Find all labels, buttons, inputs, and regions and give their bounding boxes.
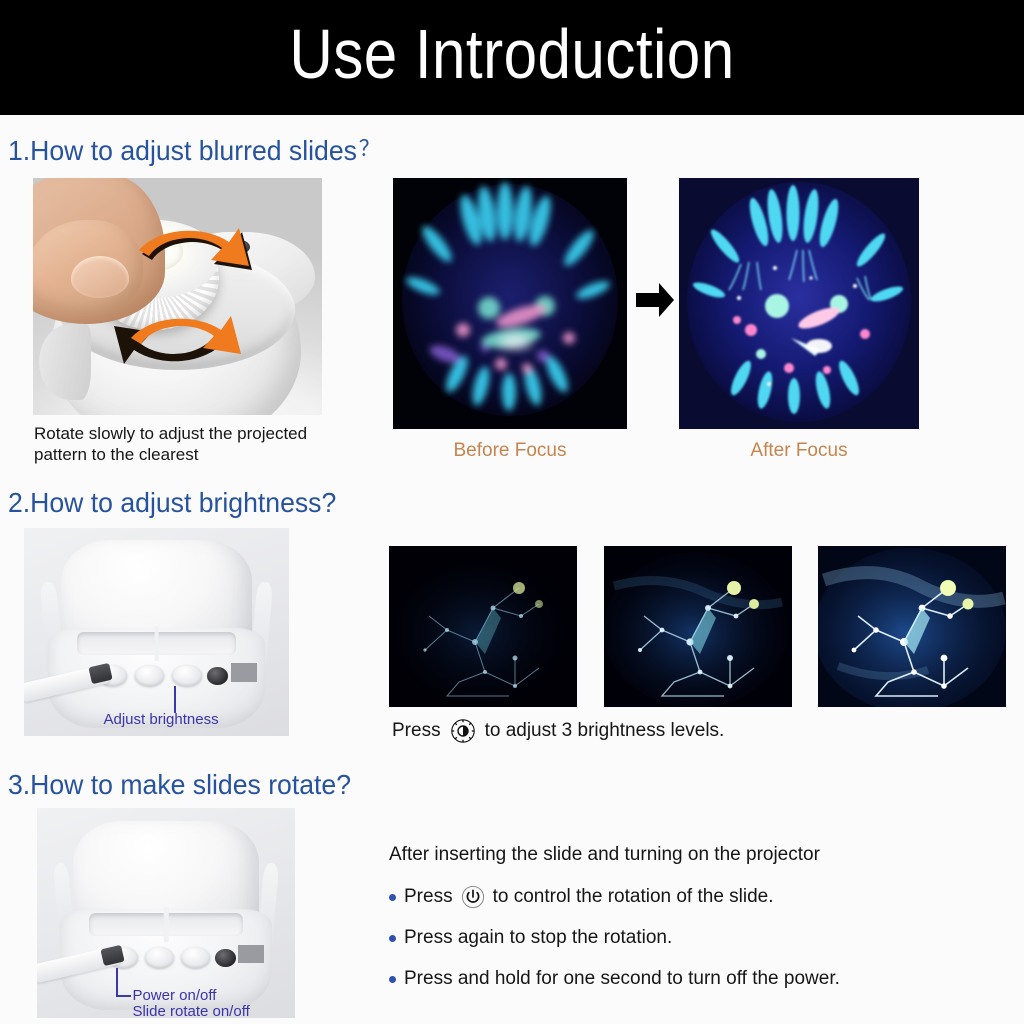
section-1-question-mark: ？: [357, 136, 380, 161]
brightness-level-2-image: [604, 546, 792, 707]
section-3-bullet-1: Press to control the rotation of the sli…: [389, 885, 774, 909]
speaker-grille-icon: [238, 945, 264, 964]
middle-button: [145, 947, 173, 968]
bullet-dot: [389, 894, 396, 901]
infographic-page: Use Introduction 1.How to adjust blurred…: [0, 0, 1024, 1024]
power-annotation-label: Power on/off: [132, 987, 216, 1005]
section-3-bullet-3: Press and hold for one second to turn of…: [389, 967, 840, 991]
focus-dial-caption: Rotate slowly to adjust the projected pa…: [34, 423, 364, 465]
section-2-heading: 2.How to adjust brightness?: [8, 488, 336, 518]
arrow-right-icon: [634, 280, 676, 320]
brightness-level-1-image: [389, 546, 577, 707]
page-title: Use Introduction: [72, 12, 953, 96]
rotation-arrows-icon: [33, 178, 322, 415]
power-leader-line-horizontal: [116, 995, 131, 997]
section-1-heading-text: 1.How to adjust blurred slides: [8, 135, 357, 166]
slide-slot: [77, 632, 236, 655]
focus-dial-photo: [33, 178, 322, 415]
section-3-intro: After inserting the slide and turning on…: [389, 843, 820, 867]
power-icon: [461, 885, 485, 909]
bullet-2-text: Press again to stop the rotation.: [404, 926, 672, 950]
power-button-photo: Power on/off Slide rotate on/off: [37, 808, 295, 1018]
section-3-heading: 3.How to make slides rotate?: [8, 770, 351, 800]
dc-port: [215, 949, 236, 967]
bullet-3-text: Press and hold for one second to turn of…: [404, 967, 840, 991]
after-focus-image: [679, 178, 919, 429]
section-3-bullet-2: Press again to stop the rotation.: [389, 926, 672, 950]
bullet-1-suffix: to control the rotation of the slide.: [493, 885, 774, 909]
brightness-annotation-label: Adjust brightness: [104, 711, 219, 729]
slide-rotate-annotation-label: Slide rotate on/off: [132, 1003, 249, 1018]
before-focus-label: Before Focus: [393, 440, 627, 462]
bullet-dot: [389, 976, 396, 983]
brightness-button-photo: Adjust brightness: [24, 528, 289, 736]
brightness-leader-line: [174, 686, 176, 713]
after-focus-label: After Focus: [679, 440, 919, 462]
before-focus-image: [393, 178, 627, 429]
bullet-dot: [389, 935, 396, 942]
brightness-icon: [450, 718, 476, 744]
brightness-instruction-prefix: Press: [392, 718, 441, 744]
brightness-instruction: Press to adjust 3 brightness levels.: [392, 718, 724, 744]
dc-port: [207, 667, 228, 685]
section-1-heading: 1.How to adjust blurred slides？: [8, 136, 380, 168]
brightness-button: [181, 947, 209, 968]
brightness-button: [172, 665, 201, 686]
brightness-level-3-image: [818, 546, 1006, 707]
slide-slot: [89, 913, 244, 936]
bullet-1-prefix: Press: [404, 885, 453, 909]
speaker-grille-icon: [231, 663, 258, 682]
brightness-instruction-suffix: to adjust 3 brightness levels.: [485, 718, 725, 744]
power-leader-line-vertical: [116, 968, 118, 997]
